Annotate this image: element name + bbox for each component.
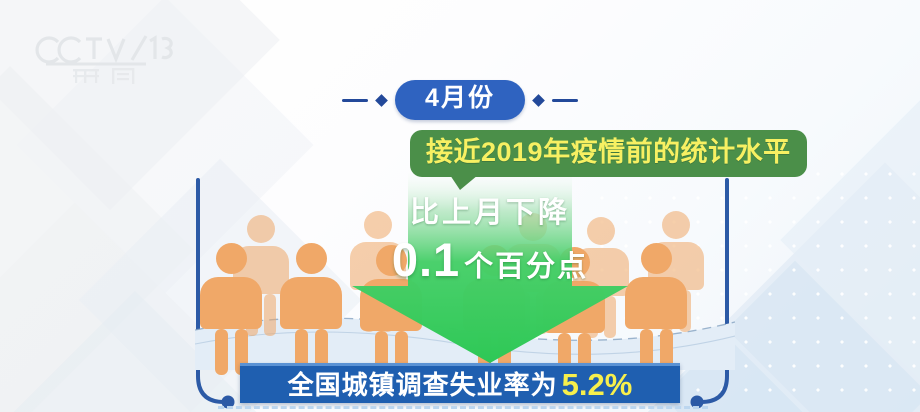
callout-text: 接近2019年疫情前的统计水平 (426, 137, 791, 168)
result-banner: 全国城镇调查失业率为 5.2% (240, 363, 680, 403)
arrow-change-value: 0.1 (392, 236, 460, 283)
callout-bubble-tail (450, 175, 478, 190)
headline-dash-right-icon (552, 99, 578, 102)
person-icon (280, 243, 342, 329)
headline-diamond-right-icon (532, 94, 545, 107)
cctv13-logo (28, 28, 178, 86)
result-banner-label: 全国城镇调查失业率为 (288, 372, 558, 398)
person-icon (200, 243, 262, 329)
callout-bubble: 接近2019年疫情前的统计水平 (410, 130, 807, 177)
arrow-text-block: 比上月下降 0.1 个百分点 (352, 168, 628, 363)
bg-diagonal-shape (780, 70, 920, 409)
result-banner-value: 5.2% (562, 369, 633, 400)
headline-bar: 4月份 (0, 80, 920, 120)
arrow-change-label: 比上月下降 (410, 198, 570, 230)
bg-diagonal-shape (722, 162, 920, 412)
person-icon (625, 243, 687, 329)
arrow-change-unit: 个百分点 (464, 243, 588, 285)
headline-dash-left-icon (342, 99, 368, 102)
decrease-arrow: 比上月下降 0.1 个百分点 (352, 168, 628, 363)
period-pill-label: 4月份 (395, 80, 525, 120)
arrow-change-value-row: 0.1 个百分点 (392, 236, 588, 285)
headline-diamond-left-icon (375, 94, 388, 107)
infographic-canvas: 4月份 (0, 0, 920, 412)
banner-dashed-underline (218, 406, 708, 409)
